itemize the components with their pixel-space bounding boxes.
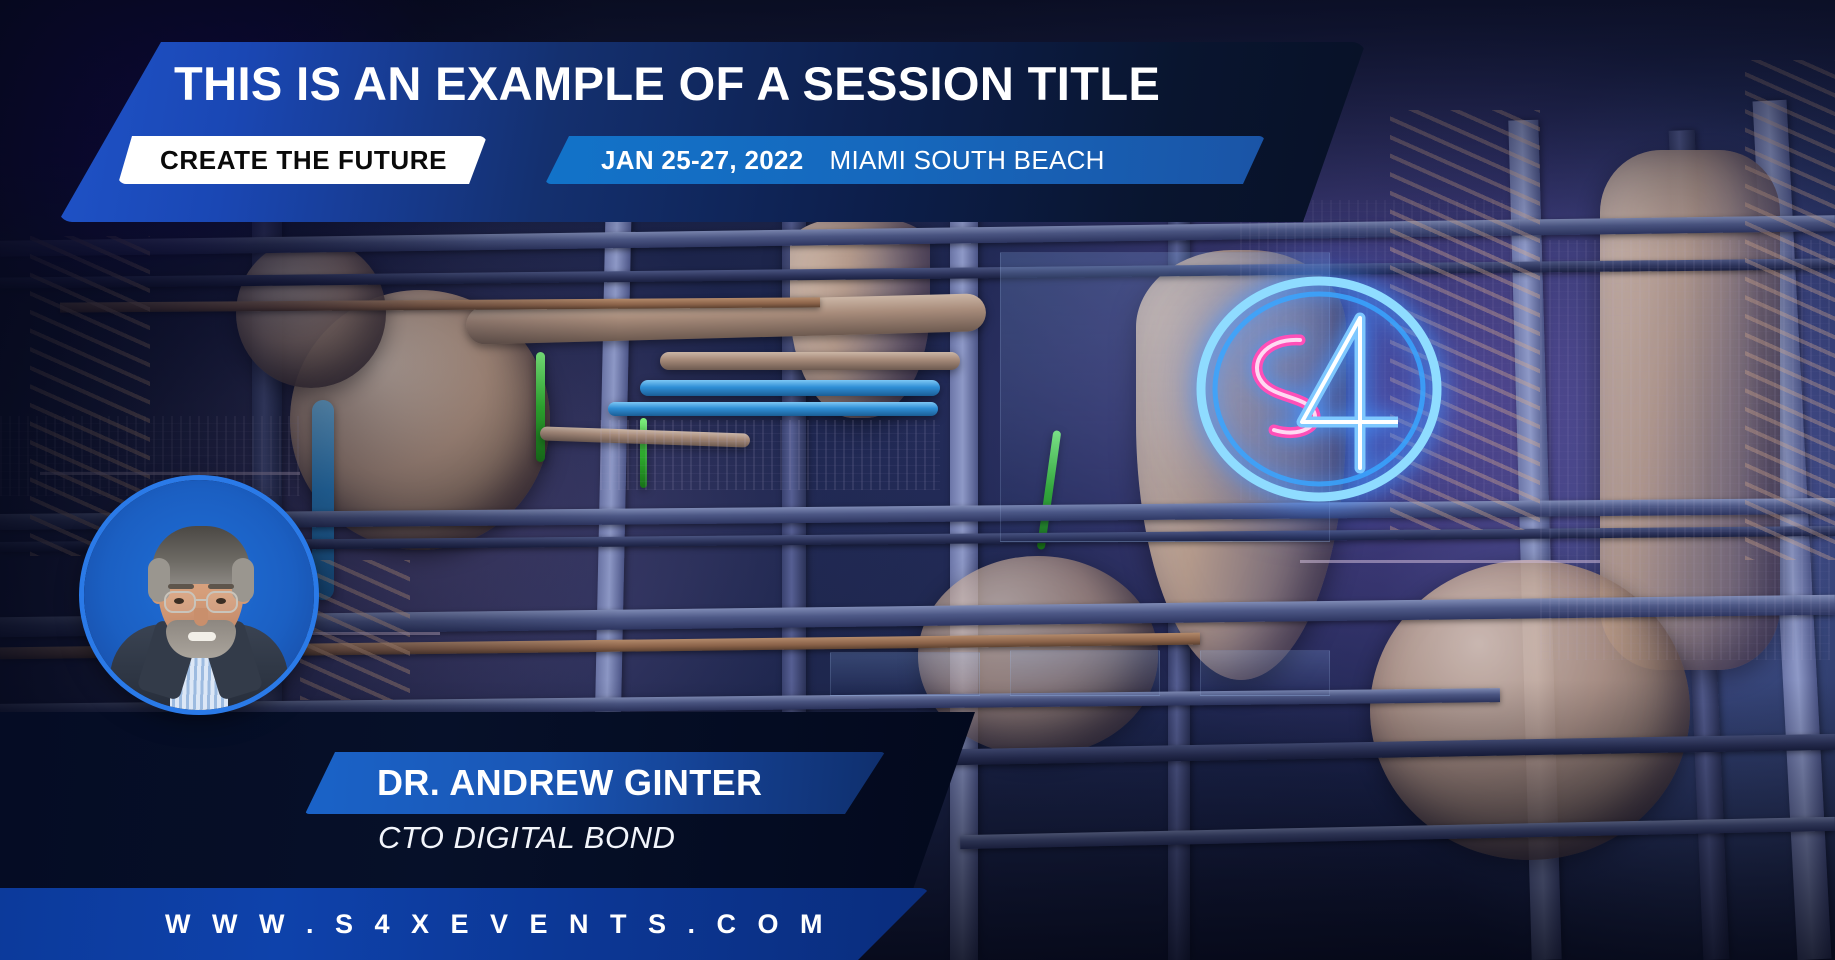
speaker-nameplate: DR. ANDREW GINTER [305,752,885,814]
portrait-eyeglass-bridge [196,599,208,601]
speaker-role: CTO DIGITAL BOND [378,820,675,856]
avatar [84,480,314,710]
speaker-portrait [84,480,314,710]
date-location-pill: JAN 25-27, 2022 MIAMI SOUTH BEACH [545,136,1265,184]
handrail [1300,560,1600,563]
s4-neon-logo [1192,272,1446,506]
portrait-mouth [188,632,216,641]
event-dates: JAN 25-27, 2022 [601,145,804,176]
header-content: THIS IS AN EXAMPLE OF A SESSION TITLE CR… [58,42,1366,222]
portrait-eye-right [216,598,226,604]
website-url[interactable]: W W W . S 4 X E V E N T S . C O M [165,909,830,940]
portrait-brow-right [208,584,234,589]
session-title-card: THIS IS AN EXAMPLE OF A SESSION TITLE CR… [0,0,1835,960]
tagline-pill: CREATE THE FUTURE [118,136,487,184]
website-bar[interactable]: W W W . S 4 X E V E N T S . C O M [0,888,930,960]
portrait-brow-left [168,584,194,589]
portrait-eye-left [174,598,184,604]
portrait-nose [194,608,208,626]
tagline-text: CREATE THE FUTURE [160,145,447,176]
speaker-name: DR. ANDREW GINTER [377,762,762,804]
page-title: THIS IS AN EXAMPLE OF A SESSION TITLE [174,56,1354,111]
event-location: MIAMI SOUTH BEACH [830,145,1105,176]
